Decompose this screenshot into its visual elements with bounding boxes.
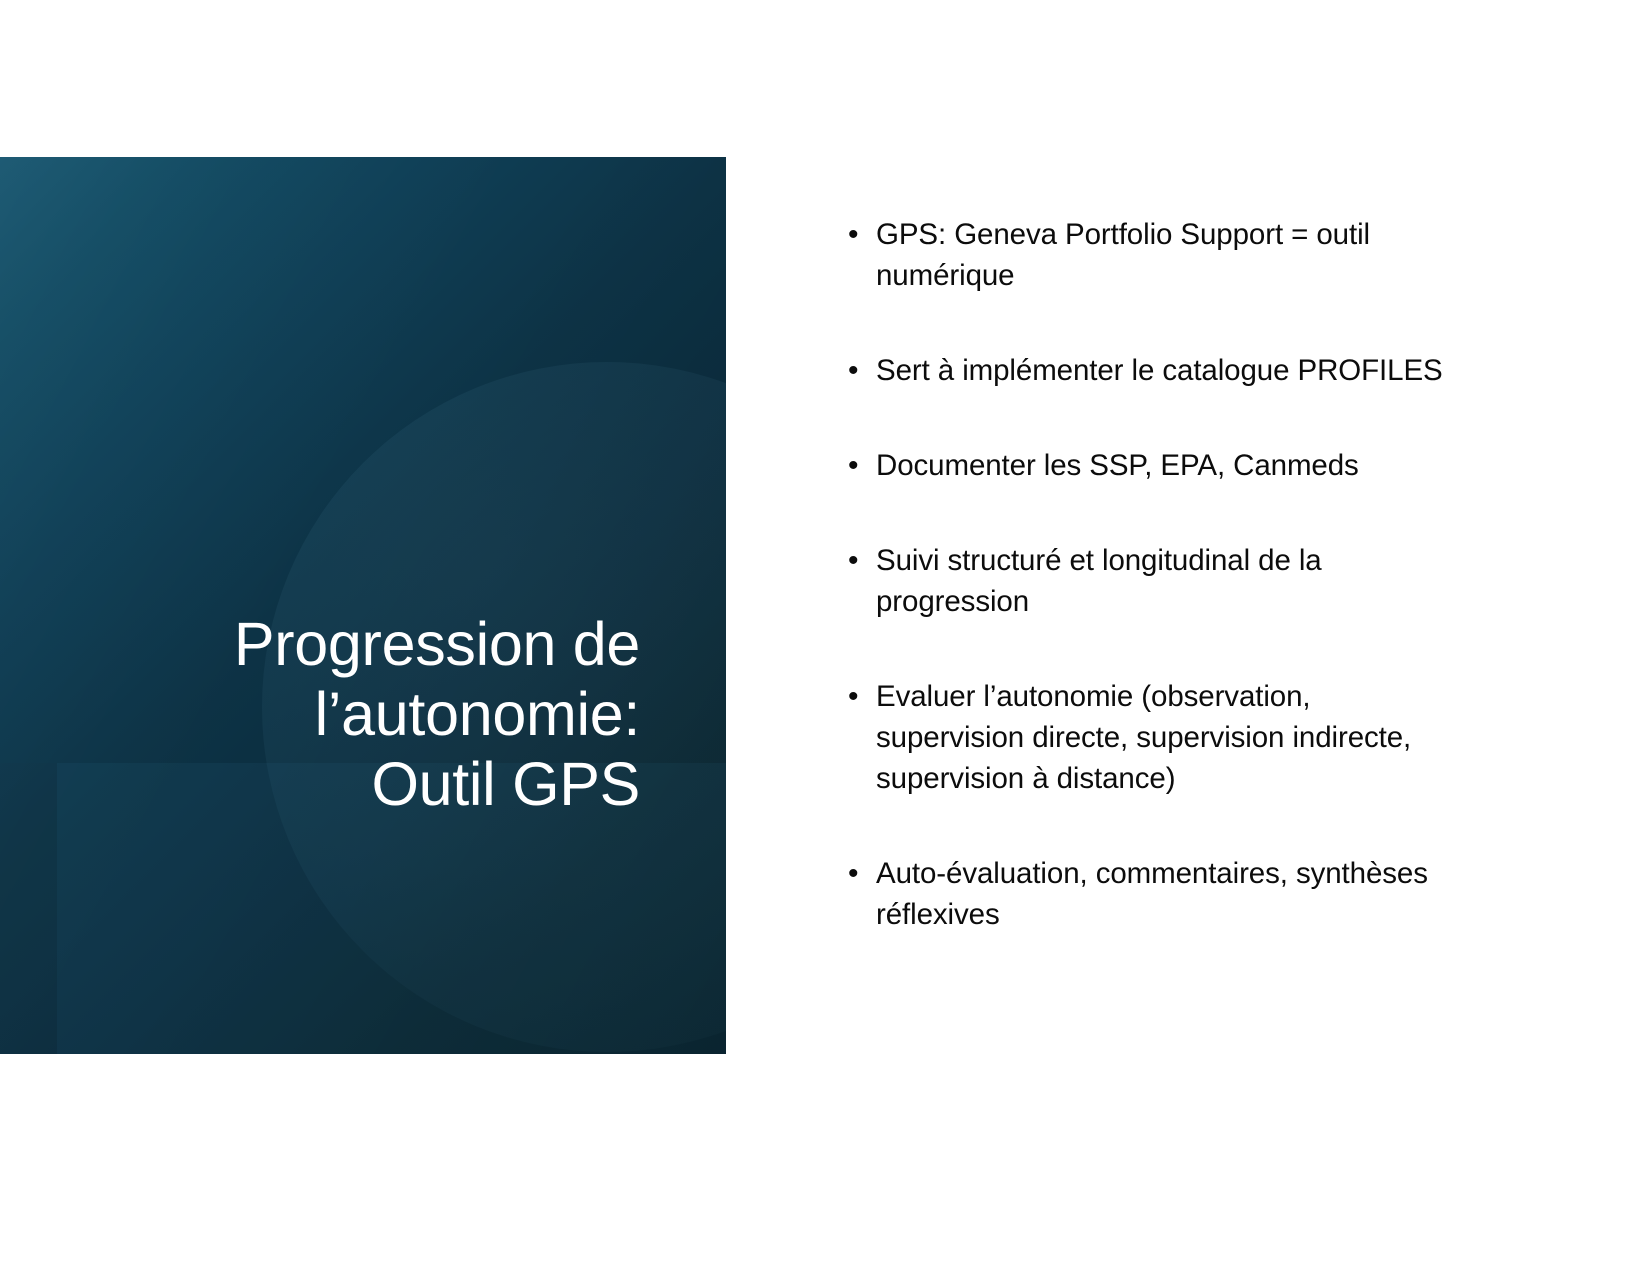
list-item: • Sert à implémenter le catalogue PROFIL… bbox=[838, 350, 1448, 391]
bullet-marker-icon: • bbox=[838, 540, 876, 581]
list-item: • Documenter les SSP, EPA, Canmeds bbox=[838, 445, 1448, 486]
bullet-marker-icon: • bbox=[838, 350, 876, 391]
bullet-marker-icon: • bbox=[838, 445, 876, 486]
bullet-marker-icon: • bbox=[838, 853, 876, 894]
bullet-marker-icon: • bbox=[838, 214, 876, 255]
panel-gradient-sheen bbox=[0, 157, 726, 1054]
list-item-text: Suivi structuré et longitudinal de la pr… bbox=[876, 540, 1448, 622]
bullet-marker-icon: • bbox=[838, 676, 876, 717]
list-item: • Auto-évaluation, commentaires, synthès… bbox=[838, 853, 1448, 935]
presentation-slide: Progression de l’autonomie: Outil GPS • … bbox=[0, 0, 1650, 1275]
list-item: • Suivi structuré et longitudinal de la … bbox=[838, 540, 1448, 622]
list-item-text: Auto-évaluation, commentaires, synthèses… bbox=[876, 853, 1448, 935]
list-item-text: Documenter les SSP, EPA, Canmeds bbox=[876, 445, 1448, 486]
decorative-column-edge bbox=[0, 763, 57, 1054]
title-panel: Progression de l’autonomie: Outil GPS bbox=[0, 157, 726, 1054]
list-item-text: Sert à implémenter le catalogue PROFILES bbox=[876, 350, 1448, 391]
list-item-text: GPS: Geneva Portfolio Support = outil nu… bbox=[876, 214, 1448, 296]
slide-title: Progression de l’autonomie: Outil GPS bbox=[60, 609, 640, 819]
bullet-list: • GPS: Geneva Portfolio Support = outil … bbox=[838, 214, 1448, 935]
list-item: • Evaluer l’autonomie (observation, supe… bbox=[838, 676, 1448, 799]
list-item-text: Evaluer l’autonomie (observation, superv… bbox=[876, 676, 1448, 799]
list-item: • GPS: Geneva Portfolio Support = outil … bbox=[838, 214, 1448, 296]
